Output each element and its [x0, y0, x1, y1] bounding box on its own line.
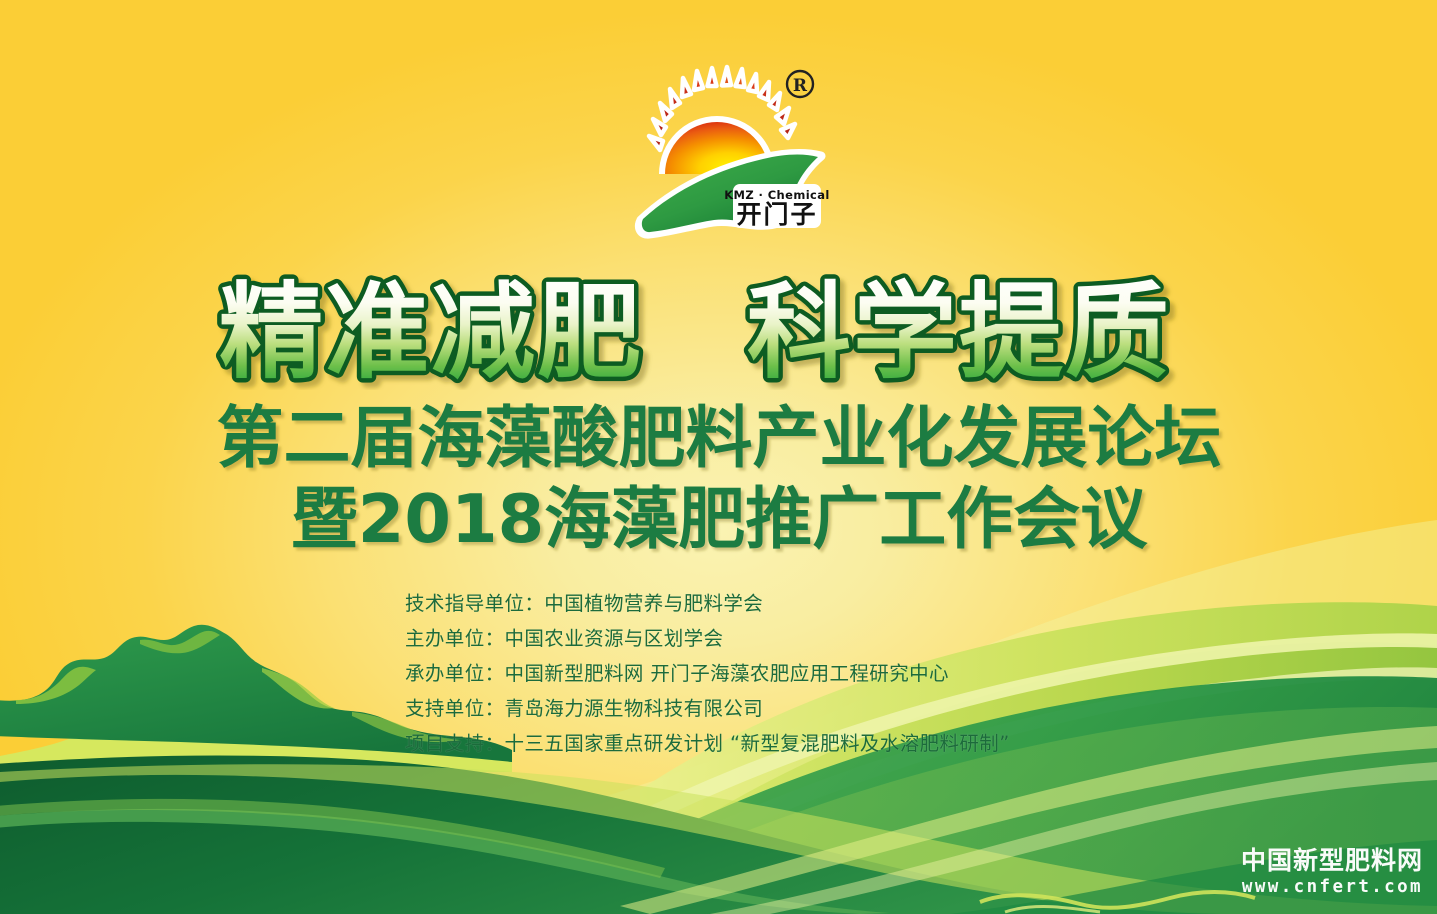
- site-watermark: 中国新型肥料网 www.cnfert.com: [1241, 848, 1423, 896]
- info-line-supporter: 支持单位：青岛海力源生物科技有限公司: [405, 691, 1105, 726]
- brand-logo: KMZ · Chemical 开门子 R: [623, 62, 833, 247]
- watermark-url: www.cnfert.com: [1241, 878, 1423, 896]
- subtitle-text-1: 第二届海藻酸肥料产业化发展论坛: [216, 399, 1221, 477]
- subtitle-line-2: 暨2018海藻肥推广工作会议: [0, 480, 1437, 558]
- main-slogan: 精准减肥 精准减肥 科学提质 科学提质: [0, 272, 1437, 387]
- watermark-site-name: 中国新型肥料网: [1241, 848, 1423, 874]
- subtitle-text-2: 暨2018海藻肥推广工作会议: [290, 480, 1147, 558]
- subtitle-line-1: 第二届海藻酸肥料产业化发展论坛: [0, 399, 1437, 477]
- svg-text:精准减肥: 精准减肥: [219, 272, 643, 390]
- logo-brand-cn: 开门子: [736, 200, 817, 229]
- svg-text:科学提质: 科学提质: [747, 272, 1171, 390]
- poster-canvas: KMZ · Chemical 开门子 R: [0, 0, 1437, 914]
- organizer-info-block: 技术指导单位：中国植物营养与肥料学会 主办单位：中国农业资源与区划学会 承办单位…: [405, 586, 1105, 761]
- info-line-organizer: 主办单位：中国农业资源与区划学会: [405, 621, 1105, 656]
- info-line-co-organizer: 承办单位：中国新型肥料网 开门子海藻农肥应用工程研究中心: [405, 656, 1105, 691]
- registered-trademark-icon: R: [787, 71, 813, 97]
- info-line-project-support: 项目支持：十三五国家重点研发计划 “新型复混肥料及水溶肥料研制”: [405, 726, 1105, 761]
- info-line-technical-guidance: 技术指导单位：中国植物营养与肥料学会: [405, 586, 1105, 621]
- svg-text:R: R: [793, 76, 808, 96]
